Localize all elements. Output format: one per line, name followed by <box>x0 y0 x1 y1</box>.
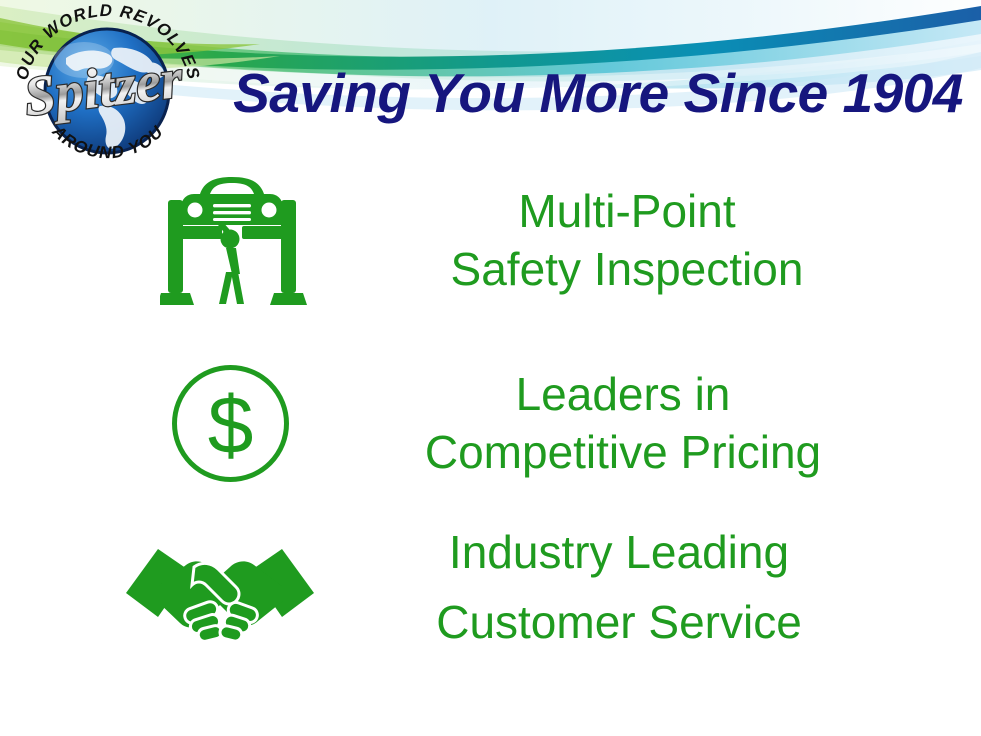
feature-row-pricing: $ Leaders in Competitive Pricing <box>0 348 981 498</box>
car-lift-icon <box>135 173 335 308</box>
svg-text:$: $ <box>207 380 253 471</box>
feature-line-2: Safety Inspection <box>347 240 907 298</box>
feature-label-service: Industry Leading Customer Service <box>339 517 899 657</box>
feature-label-inspection: Multi-Point Safety Inspection <box>347 182 907 298</box>
feature-line-2: Customer Service <box>339 587 899 657</box>
page-title: Saving You More Since 1904 <box>222 62 974 124</box>
feature-label-pricing: Leaders in Competitive Pricing <box>338 365 908 481</box>
feature-row-service: Industry Leading Customer Service <box>0 512 981 662</box>
spitzer-logo: OUR WORLD REVOLVES AROUND YOU Spitzer <box>4 2 209 180</box>
feature-line-2: Competitive Pricing <box>338 423 908 481</box>
feature-line-1: Leaders in <box>338 365 908 423</box>
dollar-circle-icon: $ <box>130 361 330 486</box>
feature-line-1: Multi-Point <box>347 182 907 240</box>
feature-line-1: Industry Leading <box>339 517 899 587</box>
slide-canvas: OUR WORLD REVOLVES AROUND YOU Spitzer Sa… <box>0 0 981 736</box>
feature-row-inspection: Multi-Point Safety Inspection <box>0 170 981 310</box>
handshake-icon <box>105 531 335 643</box>
